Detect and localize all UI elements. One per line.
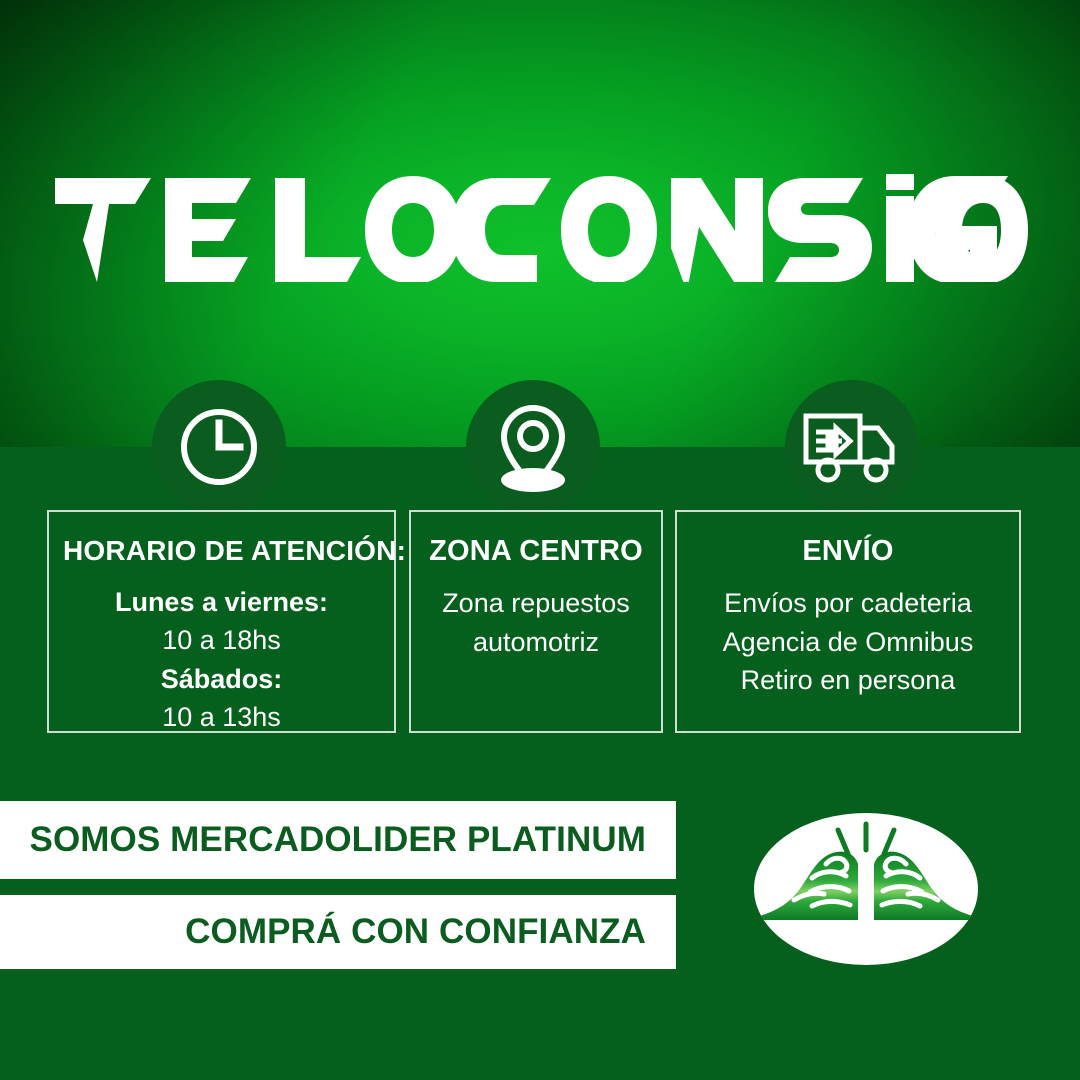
info-line: Agencia de Omnibus	[691, 623, 1005, 661]
info-box-title: HORARIO DE ATENCIÓN:	[63, 534, 380, 567]
info-box-title: ENVÍO	[691, 534, 1005, 568]
info-line: automotriz	[425, 623, 647, 661]
info-line: Retiro en persona	[691, 661, 1005, 699]
info-line: 10 a 18hs	[63, 621, 380, 659]
banner-text: SOMOS MERCADOLIDER PLATINUM	[30, 820, 646, 860]
info-line: Sábados:	[63, 660, 380, 698]
info-line: Lunes a viernes:	[63, 583, 380, 621]
fist-bump-icon	[750, 808, 982, 970]
info-line: Envíos por cadeteria	[691, 584, 1005, 622]
info-box-body: Lunes a viernes: 10 a 18hs Sábados: 10 a…	[63, 583, 380, 736]
info-box-horario: HORARIO DE ATENCIÓN: Lunes a viernes: 10…	[47, 510, 396, 733]
info-line: 10 a 13hs	[63, 698, 380, 736]
fist-bump-badge	[750, 808, 982, 970]
info-box-body: Envíos por cadeteria Agencia de Omnibus …	[691, 584, 1005, 699]
info-box-zona: ZONA CENTRO Zona repuestos automotriz	[409, 510, 663, 733]
banner-text: COMPRÁ CON CONFIANZA	[185, 912, 646, 952]
info-box-envio: ENVÍO Envíos por cadeteria Agencia de Om…	[675, 510, 1021, 733]
info-box-title: ZONA CENTRO	[425, 534, 647, 568]
info-line: Zona repuestos	[425, 584, 647, 622]
banner-mercadolider: SOMOS MERCADOLIDER PLATINUM	[0, 801, 676, 879]
banner-confianza: COMPRÁ CON CONFIANZA	[0, 895, 676, 969]
info-box-body: Zona repuestos automotriz	[425, 584, 647, 661]
promo-banner-canvas: TELOCONSIGO	[0, 0, 1080, 1080]
